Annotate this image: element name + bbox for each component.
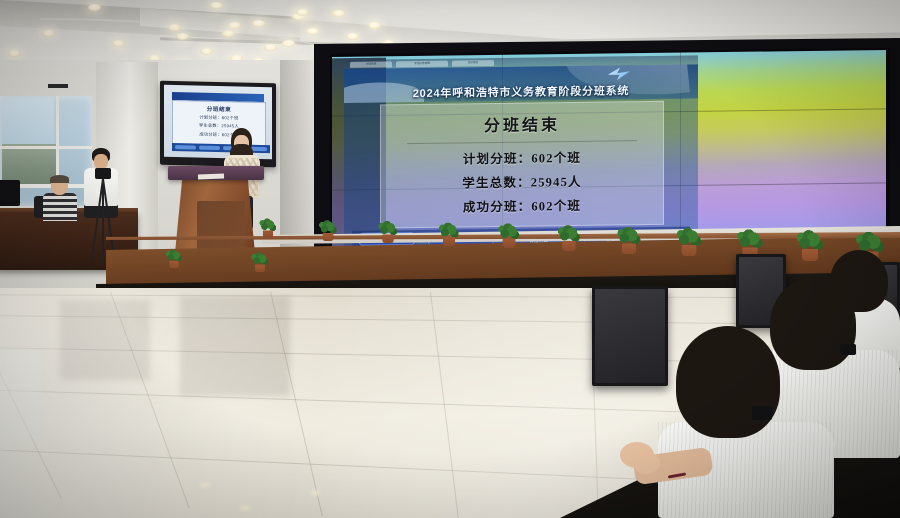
- hair-clip: [752, 406, 772, 420]
- browser-tab-0[interactable]: 分班系统: [350, 61, 392, 68]
- downlight-icon: [42, 30, 55, 37]
- downlight-icon: [368, 22, 381, 29]
- potted-plant: [617, 225, 641, 253]
- window-mullion-horizontal: [0, 146, 92, 149]
- stat-total-students: 学生总数：25945人: [381, 165, 663, 193]
- downlight-icon: [88, 4, 101, 11]
- downlight-icon: [222, 30, 235, 37]
- audience-hand: [632, 452, 660, 474]
- plant-pot: [263, 230, 273, 238]
- app-banner: 2024年呼和浩特市义务教育阶段分班系统: [344, 64, 698, 103]
- seated-man-hair: [50, 175, 69, 183]
- plant-pot: [169, 261, 179, 268]
- camera-tripod: [92, 168, 114, 264]
- seated-man-torso: [43, 193, 77, 221]
- podium-front-panel: [197, 201, 245, 251]
- plant-pot: [682, 245, 697, 256]
- podium-papers: [198, 174, 224, 180]
- downlight-icon: [306, 28, 319, 35]
- wall-monitor-mount: [48, 84, 68, 88]
- hair-clip: [840, 344, 856, 355]
- plant-pot: [502, 239, 515, 249]
- stat-successful-classes: 成功分班：602个班: [381, 189, 663, 217]
- potted-plant: [677, 227, 702, 257]
- downlight-icon: [8, 50, 21, 57]
- result-card: 分班结束 计划分班：602个班 学生总数：25945人 成功分班：602个班: [380, 101, 664, 229]
- browser-tab-1[interactable]: 学生信息管理: [396, 61, 448, 68]
- downlight-icon: [200, 48, 213, 55]
- audience-hair: [676, 326, 780, 438]
- downlight-icon: [176, 33, 189, 40]
- standing-man-face: [94, 154, 108, 169]
- video-camera-icon: [95, 168, 111, 179]
- downlight-icon: [252, 20, 265, 27]
- window-sky: [2, 98, 54, 148]
- plant-pot: [383, 235, 395, 244]
- downlight-icon: [112, 40, 125, 47]
- stat-planned-classes: 计划分班：602个班: [381, 141, 663, 169]
- tripod-leg: [102, 179, 116, 262]
- app-title: 2024年呼和浩特市义务教育阶段分班系统: [344, 81, 698, 102]
- plant-pot: [443, 237, 455, 246]
- potted-plant: [438, 221, 458, 245]
- downlight-icon: [228, 22, 241, 29]
- downlight-icon: [168, 24, 181, 31]
- downlight-icon: [264, 44, 277, 51]
- downlight-icon: [332, 10, 345, 17]
- browser-tab-2[interactable]: 打印预览: [452, 60, 494, 67]
- potted-plant: [379, 220, 398, 243]
- browser-tab-label: 打印预览: [452, 60, 494, 67]
- downlight-icon: [346, 33, 359, 40]
- floor-light-reflection: [310, 490, 320, 496]
- floor-light-reflection: [200, 482, 210, 488]
- result-heading: 分班结束: [381, 102, 663, 138]
- potted-plant: [498, 223, 519, 249]
- browser-tab-label: 分班系统: [350, 61, 392, 68]
- downlight-icon: [282, 40, 295, 47]
- downlight-icon: [296, 9, 309, 16]
- potted-plant: [796, 229, 823, 261]
- plant-pot: [562, 241, 576, 251]
- potted-plant: [166, 249, 182, 268]
- potted-plant: [558, 224, 581, 251]
- potted-plant: [252, 252, 269, 272]
- audience-woman-front: [644, 326, 834, 518]
- desk-monitor-left: [0, 180, 20, 206]
- browser-tab-label: 学生信息管理: [396, 61, 448, 68]
- floor-light-reflection: [240, 505, 250, 511]
- plant-pot: [255, 264, 265, 272]
- potted-plant: [319, 219, 337, 241]
- downlight-icon: [210, 2, 223, 9]
- seated-man: [40, 176, 80, 220]
- wall-monitor-button: [175, 145, 196, 150]
- conference-room-photo: 分班结束 计划分班：602个班 学生总数：25945人 成功分班：602个班 分: [0, 0, 900, 518]
- plant-pot: [622, 243, 636, 254]
- plant-pot: [802, 249, 818, 261]
- wall-monitor-button: [199, 145, 220, 150]
- plant-pot: [323, 232, 334, 240]
- podium-body: [175, 179, 255, 253]
- potted-plant: [260, 218, 277, 238]
